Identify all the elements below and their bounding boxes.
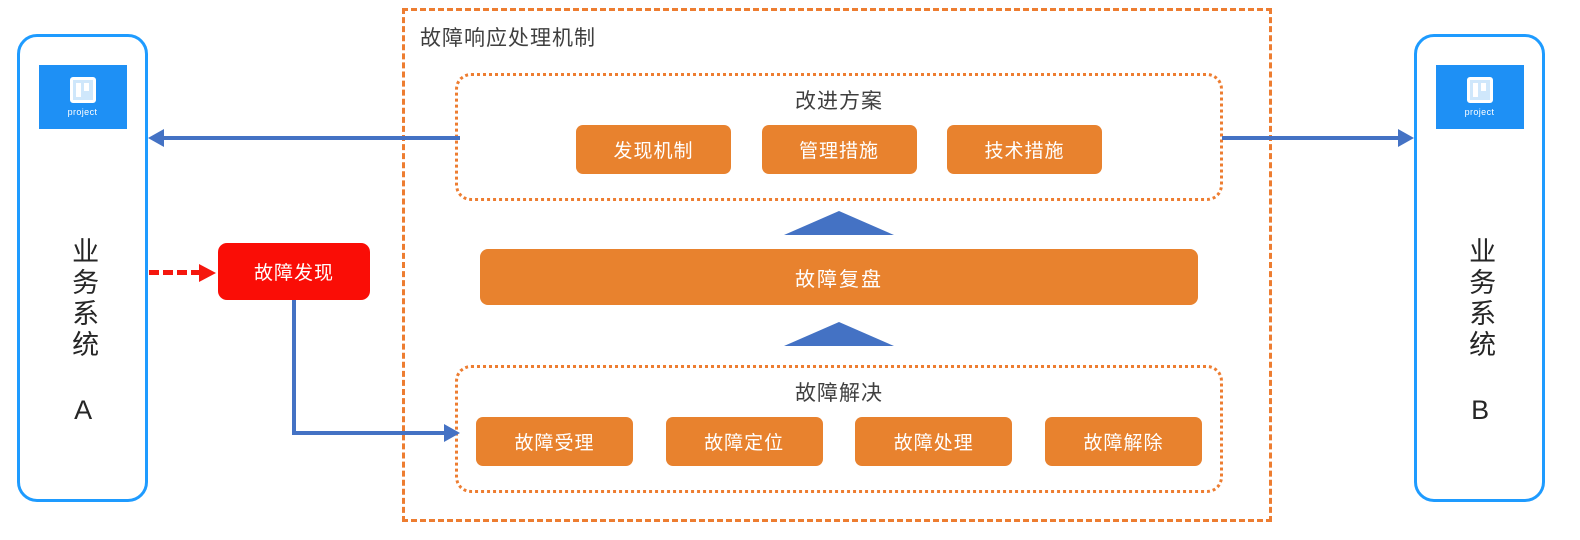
connector-discovery-to-resolution bbox=[292, 431, 444, 435]
arrowhead-right-icon bbox=[1398, 129, 1414, 147]
chip-fault-handling[interactable]: 故障处理 bbox=[855, 417, 1012, 466]
fault-discovery-box[interactable]: 故障发现 bbox=[218, 243, 370, 300]
fault-resolution-title: 故障解决 bbox=[458, 377, 1220, 407]
up-arrow-to-improvement-icon bbox=[784, 211, 894, 235]
business-system-b-label: 业务系统 B bbox=[1465, 237, 1494, 429]
improvement-plan-title: 改进方案 bbox=[458, 85, 1220, 115]
arrowhead-left-icon bbox=[148, 129, 164, 147]
fault-resolution-chip-row: 故障受理 故障定位 故障处理 故障解除 bbox=[476, 417, 1202, 466]
arrowhead-red-icon bbox=[199, 264, 216, 282]
project-badge-a: project bbox=[39, 65, 127, 129]
chip-fault-location[interactable]: 故障定位 bbox=[666, 417, 823, 466]
business-system-b-panel[interactable]: project 业务系统 B bbox=[1414, 34, 1545, 502]
chip-technical-measures[interactable]: 技术措施 bbox=[947, 125, 1102, 174]
project-board-icon bbox=[70, 77, 96, 103]
chip-fault-acceptance[interactable]: 故障受理 bbox=[476, 417, 633, 466]
project-badge-caption-b: project bbox=[1465, 108, 1495, 117]
chip-discovery-mechanism[interactable]: 发现机制 bbox=[576, 125, 731, 174]
chip-fault-clearance[interactable]: 故障解除 bbox=[1045, 417, 1202, 466]
chip-management-measures[interactable]: 管理措施 bbox=[762, 125, 917, 174]
business-system-a-panel[interactable]: project 业务系统 A bbox=[17, 34, 148, 502]
up-arrow-to-review-icon bbox=[784, 322, 894, 346]
fault-review-bar[interactable]: 故障复盘 bbox=[480, 249, 1198, 305]
connector-mechanism-to-system-b bbox=[1222, 136, 1398, 140]
connector-system-a-to-discovery bbox=[149, 270, 201, 275]
project-badge-caption-a: project bbox=[68, 108, 98, 117]
mechanism-title: 故障响应处理机制 bbox=[420, 22, 596, 52]
connector-discovery-down bbox=[292, 300, 296, 435]
improvement-plan-chip-row: 发现机制 管理措施 技术措施 bbox=[576, 125, 1102, 174]
connector-mechanism-to-system-a bbox=[164, 136, 460, 140]
improvement-plan-group: 改进方案 发现机制 管理措施 技术措施 bbox=[455, 73, 1223, 201]
fault-resolution-group: 故障解决 故障受理 故障定位 故障处理 故障解除 bbox=[455, 365, 1223, 493]
diagram-canvas: project 业务系统 A project 业务系统 B 故障响应处理机制 改… bbox=[0, 0, 1580, 540]
arrowhead-right-icon bbox=[444, 424, 460, 442]
business-system-a-label: 业务系统 A bbox=[68, 237, 97, 429]
project-board-icon bbox=[1467, 77, 1493, 103]
project-badge-b: project bbox=[1436, 65, 1524, 129]
